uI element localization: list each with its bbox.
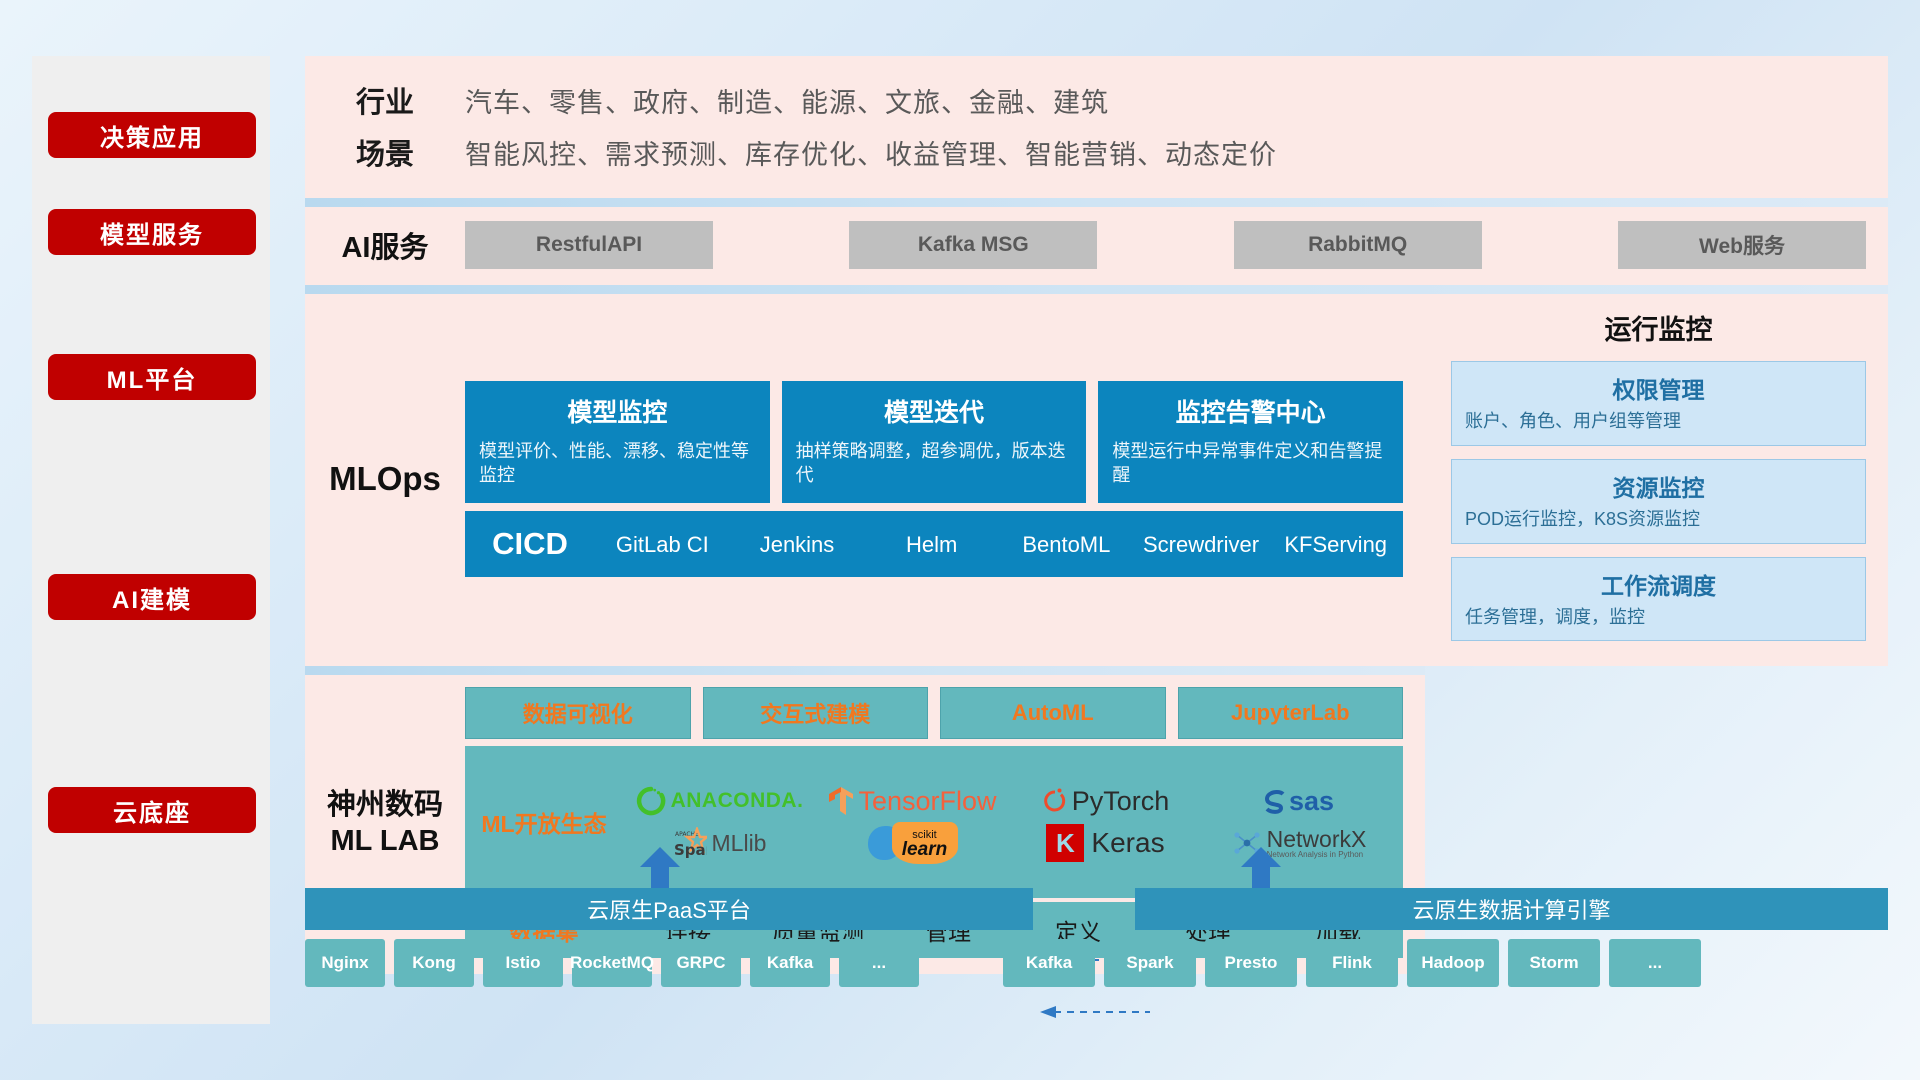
mllib-wordmark: MLlib	[712, 830, 767, 857]
card-desc: 模型运行中异常事件定义和告警提醒	[1112, 439, 1389, 488]
card-desc: 任务管理，调度，监控	[1465, 606, 1852, 630]
card-desc: 抽样策略调整，超参调优，版本迭代	[796, 439, 1073, 488]
ml-lab-tab-row: 数据可视化 交互式建模 AutoML JupyterLab	[465, 687, 1403, 739]
scenario-row: 场景 智能风控、需求预测、库存优化、收益管理、智能营销、动态定价	[305, 126, 1888, 178]
rail-item-cloud-base[interactable]: 云底座	[48, 787, 256, 833]
cloud-chip-row: Nginx Kong Istio RocketMQ GRPC Kafka ...…	[305, 939, 1888, 987]
band-divider	[305, 285, 1888, 294]
band-divider	[305, 198, 1888, 207]
cicd-label: CICD	[465, 526, 595, 562]
sas-icon	[1263, 788, 1287, 814]
band-ai-service: AI服务 RestfulAPI Kafka MSG RabbitMQ Web服务	[305, 207, 1888, 285]
ml-ecosystem-label: ML开放生态	[465, 805, 623, 839]
engine-chip-group: Kafka Spark Presto Flink Hadoop Storm ..…	[1003, 939, 1710, 987]
cicd-item-list: GitLab CI Jenkins Helm BentoML Screwdriv…	[595, 532, 1403, 557]
mlops-label: MLOps	[305, 460, 465, 498]
anaconda-icon	[636, 786, 666, 816]
card-title: 工作流调度	[1465, 567, 1852, 601]
tab-data-visualization[interactable]: 数据可视化	[465, 687, 691, 739]
monitoring-card-permissions[interactable]: 权限管理 账户、角色、用户组等管理	[1451, 361, 1866, 446]
card-title: 模型监控	[479, 393, 756, 429]
mlops-card-model-monitoring[interactable]: 模型监控 模型评价、性能、漂移、稳定性等监控	[465, 381, 770, 504]
cicd-item-kfserving[interactable]: KFServing	[1268, 532, 1403, 557]
tab-jupyterlab[interactable]: JupyterLab	[1178, 687, 1404, 739]
engine-chip-presto[interactable]: Presto	[1205, 939, 1297, 987]
engine-chip-storm[interactable]: Storm	[1508, 939, 1600, 987]
rail-item-ml-platform[interactable]: ML平台	[48, 354, 256, 400]
engine-chip-spark[interactable]: Spark	[1104, 939, 1196, 987]
industry-value: 汽车、零售、政府、制造、能源、文旅、金融、建筑	[465, 81, 1109, 120]
anaconda-wordmark: ANACONDA.	[671, 789, 804, 813]
monitoring-title: 运行监控	[1451, 308, 1866, 347]
mlops-card-model-iteration[interactable]: 模型迭代 抽样策略调整，超参调优，版本迭代	[782, 381, 1087, 504]
rail-item-model-service[interactable]: 模型服务	[48, 209, 256, 255]
card-desc: 账户、角色、用户组等管理	[1465, 410, 1852, 434]
scikit-orange-blob: scikit learn	[892, 822, 958, 864]
card-desc: 模型评价、性能、漂移、稳定性等监控	[479, 439, 756, 488]
pytorch-wordmark: PyTorch	[1072, 786, 1170, 817]
scenario-label: 场景	[305, 131, 465, 173]
paas-chip-kong[interactable]: Kong	[394, 939, 474, 987]
monitoring-card-resources[interactable]: 资源监控 POD运行监控，K8S资源监控	[1451, 459, 1866, 544]
band-mlops: MLOps 模型监控 模型评价、性能、漂移、稳定性等监控 模型迭代 抽样策略调整…	[305, 294, 1888, 666]
cicd-item-gitlab-ci[interactable]: GitLab CI	[595, 532, 730, 557]
cloud-bar-gap	[1033, 888, 1135, 930]
cicd-item-screwdriver[interactable]: Screwdriver	[1134, 532, 1269, 557]
mlops-stack: 模型监控 模型评价、性能、漂移、稳定性等监控 模型迭代 抽样策略调整，超参调优，…	[465, 381, 1425, 578]
sas-wordmark: sas	[1289, 786, 1334, 817]
ai-service-label: AI服务	[305, 224, 465, 266]
ai-service-chip-list: RestfulAPI Kafka MSG RabbitMQ Web服务	[465, 221, 1888, 269]
rail-item-decision[interactable]: 决策应用	[48, 112, 256, 158]
keras-icon: K	[1046, 824, 1084, 862]
keras-logo: K Keras	[1046, 824, 1164, 862]
engine-chip-hadoop[interactable]: Hadoop	[1407, 939, 1499, 987]
ml-ecosystem-logo-grid: ANACONDA. TensorFlow	[623, 780, 1403, 864]
service-chip-restfulapi[interactable]: RestfulAPI	[465, 221, 713, 269]
cicd-item-jenkins[interactable]: Jenkins	[730, 532, 865, 557]
sas-logo: sas	[1263, 786, 1334, 817]
arrow-up-paas	[636, 845, 684, 893]
cicd-item-helm[interactable]: Helm	[864, 532, 999, 557]
ml-lab-label-line1: 神州数码	[305, 787, 465, 823]
card-title: 模型迭代	[796, 393, 1073, 429]
paas-chip-grpc[interactable]: GRPC	[661, 939, 741, 987]
engine-chip-more[interactable]: ...	[1609, 939, 1701, 987]
mlops-card-list: 模型监控 模型评价、性能、漂移、稳定性等监控 模型迭代 抽样策略调整，超参调优，…	[465, 381, 1403, 504]
monitoring-card-workflow[interactable]: 工作流调度 任务管理，调度，监控	[1451, 557, 1866, 642]
paas-chip-rocketmq[interactable]: RocketMQ	[572, 939, 652, 987]
tensorflow-icon	[828, 786, 854, 816]
tensorflow-logo: TensorFlow	[828, 786, 996, 817]
card-title: 资源监控	[1465, 469, 1852, 503]
service-chip-rabbitmq[interactable]: RabbitMQ	[1234, 221, 1482, 269]
architecture-main: 行业 汽车、零售、政府、制造、能源、文旅、金融、建筑 场景 智能风控、需求预测、…	[305, 56, 1888, 974]
service-chip-kafka-msg[interactable]: Kafka MSG	[849, 221, 1097, 269]
card-title: 监控告警中心	[1112, 393, 1389, 429]
scikit-learn-logo: scikit learn	[868, 822, 958, 864]
paas-chip-istio[interactable]: Istio	[483, 939, 563, 987]
cloud-base-section: 云原生PaaS平台 云原生数据计算引擎 Nginx Kong Istio Roc…	[305, 888, 1888, 987]
left-rail: 决策应用 模型服务 ML平台 AI建模 云底座	[32, 56, 270, 1024]
dashed-connector-left	[1040, 1004, 1150, 1020]
tab-interactive-modeling[interactable]: 交互式建模	[703, 687, 929, 739]
learn-word: learn	[902, 841, 947, 858]
paas-chip-kafka[interactable]: Kafka	[750, 939, 830, 987]
engine-chip-flink[interactable]: Flink	[1306, 939, 1398, 987]
cicd-bar: CICD GitLab CI Jenkins Helm BentoML Scre…	[465, 511, 1403, 577]
mlops-section: MLOps 模型监控 模型评价、性能、漂移、稳定性等监控 模型迭代 抽样策略调整…	[305, 294, 1425, 666]
cloud-bar-engine[interactable]: 云原生数据计算引擎	[1135, 888, 1888, 930]
spark-mllib-logo: APACHE Spark MLlib	[673, 827, 767, 859]
cicd-item-bentoml[interactable]: BentoML	[999, 532, 1134, 557]
paas-chip-group: Nginx Kong Istio RocketMQ GRPC Kafka ...	[305, 939, 928, 987]
engine-chip-kafka[interactable]: Kafka	[1003, 939, 1095, 987]
cloud-bar-row: 云原生PaaS平台 云原生数据计算引擎	[305, 888, 1888, 930]
scenario-value: 智能风控、需求预测、库存优化、收益管理、智能营销、动态定价	[465, 133, 1277, 172]
pytorch-icon	[1042, 786, 1068, 816]
band-industry-scenario: 行业 汽车、零售、政府、制造、能源、文旅、金融、建筑 场景 智能风控、需求预测、…	[305, 56, 1888, 198]
tab-automl[interactable]: AutoML	[940, 687, 1166, 739]
paas-chip-more[interactable]: ...	[839, 939, 919, 987]
cloud-bar-paas[interactable]: 云原生PaaS平台	[305, 888, 1033, 930]
rail-item-ai-modeling[interactable]: AI建模	[48, 574, 256, 620]
industry-row: 行业 汽车、零售、政府、制造、能源、文旅、金融、建筑	[305, 74, 1888, 126]
cloud-chip-gap	[928, 939, 1003, 987]
tensorflow-wordmark: TensorFlow	[858, 786, 996, 817]
keras-wordmark: Keras	[1091, 827, 1164, 859]
band-divider	[305, 666, 1425, 675]
arrow-up-engine	[1237, 845, 1285, 893]
card-title: 权限管理	[1465, 371, 1852, 405]
anaconda-logo: ANACONDA.	[636, 786, 804, 816]
card-desc: POD运行监控，K8S资源监控	[1465, 508, 1852, 532]
paas-chip-nginx[interactable]: Nginx	[305, 939, 385, 987]
monitoring-column: 运行监控 权限管理 账户、角色、用户组等管理 资源监控 POD运行监控，K8S资…	[1425, 294, 1888, 666]
industry-label: 行业	[305, 79, 465, 121]
service-chip-web[interactable]: Web服务	[1618, 221, 1866, 269]
pytorch-logo: PyTorch	[1042, 786, 1170, 817]
ml-lab-label: 神州数码 ML LAB	[305, 787, 465, 860]
ml-lab-label-line2: ML LAB	[305, 823, 465, 859]
mlops-card-alert-center[interactable]: 监控告警中心 模型运行中异常事件定义和告警提醒	[1098, 381, 1403, 504]
